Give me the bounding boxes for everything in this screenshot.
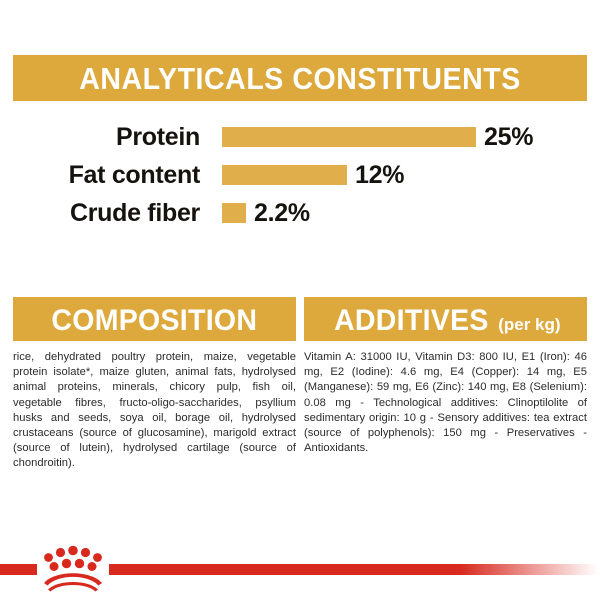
analyticals-constituents-panel: ANALYTICALS CONSTITUENTS Protein 25% Fat… bbox=[13, 55, 587, 101]
chart-bar bbox=[222, 203, 246, 223]
chart-row: Crude fiber 2.2% bbox=[13, 194, 587, 232]
royal-canin-crown-logo bbox=[37, 541, 109, 593]
chart-value-label: 12% bbox=[355, 163, 404, 188]
additives-header-unit: (per kg) bbox=[498, 316, 560, 333]
chart-row: Protein 25% bbox=[13, 118, 587, 156]
additives-panel: ADDITIVES (per kg) Vitamin A: 31000 IU, … bbox=[304, 297, 587, 456]
analyticals-header-bar: ANALYTICALS CONSTITUENTS bbox=[13, 55, 587, 101]
crown-icon bbox=[37, 541, 109, 593]
chart-bar-group: 25% bbox=[222, 125, 533, 150]
chart-row: Fat content 12% bbox=[13, 156, 587, 194]
chart-value-label: 2.2% bbox=[254, 201, 310, 226]
nutrient-bar-chart: Protein 25% Fat content 12% Crude fiber … bbox=[13, 118, 587, 232]
chart-bar bbox=[222, 165, 347, 185]
additives-header-bar: ADDITIVES (per kg) bbox=[304, 297, 587, 341]
chart-bar bbox=[222, 127, 476, 147]
composition-header-title: COMPOSITION bbox=[52, 306, 258, 336]
chart-value-label: 25% bbox=[484, 125, 533, 150]
additives-body-text: Vitamin A: 31000 IU, Vitamin D3: 800 IU,… bbox=[304, 341, 587, 456]
chart-category-label: Fat content bbox=[13, 163, 200, 188]
chart-category-label: Crude fiber bbox=[13, 201, 200, 226]
composition-panel: COMPOSITION rice, dehydrated poultry pro… bbox=[13, 297, 296, 472]
analyticals-header-title: ANALYTICALS CONSTITUENTS bbox=[79, 63, 521, 94]
additives-header-title: ADDITIVES bbox=[335, 306, 490, 336]
composition-body-text: rice, dehydrated poultry protein, maize,… bbox=[13, 341, 296, 472]
chart-bar-group: 2.2% bbox=[222, 201, 310, 226]
chart-bar-group: 12% bbox=[222, 163, 404, 188]
composition-header-bar: COMPOSITION bbox=[13, 297, 296, 341]
chart-category-label: Protein bbox=[13, 125, 200, 150]
